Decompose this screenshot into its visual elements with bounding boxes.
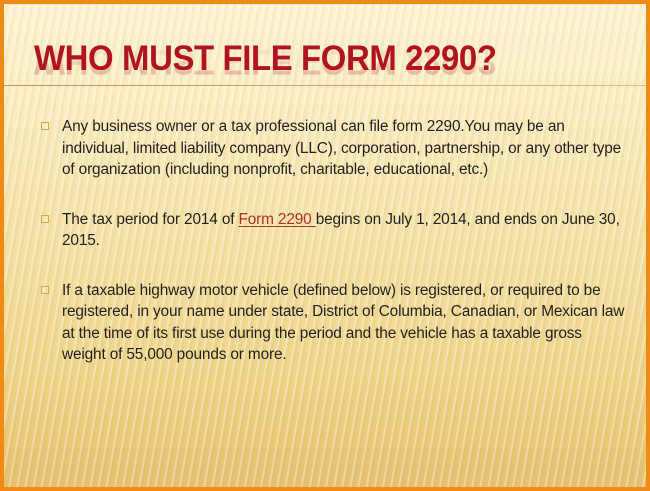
list-item-text: The tax period for 2014 of Form 2290 beg… <box>62 209 628 252</box>
list-item-text: If a taxable highway motor vehicle (defi… <box>62 280 628 366</box>
hollow-square-bullet-icon <box>41 215 49 223</box>
slide-body: Any business owner or a tax professional… <box>34 116 628 366</box>
list-item: Any business owner or a tax professional… <box>34 116 628 181</box>
hollow-square-bullet-icon <box>41 286 49 294</box>
list-item: The tax period for 2014 of Form 2290 beg… <box>34 209 628 252</box>
list-item: If a taxable highway motor vehicle (defi… <box>34 280 628 366</box>
presentation-slide: Who Must File Form 2290? Who Must File F… <box>0 0 650 491</box>
page-title: Who Must File Form 2290? <box>34 40 497 78</box>
slide-title-area: Who Must File Form 2290? Who Must File F… <box>4 40 646 102</box>
hollow-square-bullet-icon <box>41 122 49 130</box>
title-divider-rule <box>4 85 646 86</box>
list-item-text-before-link: The tax period for 2014 of <box>62 211 238 228</box>
form-2290-link[interactable]: Form 2290 <box>238 211 315 228</box>
list-item-text: Any business owner or a tax professional… <box>62 116 628 181</box>
